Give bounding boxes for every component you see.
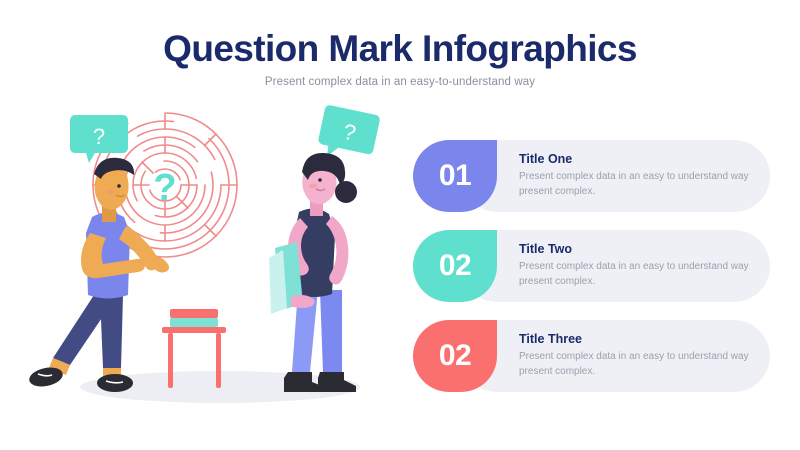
book-teal bbox=[170, 318, 218, 327]
card-number-2: 02 bbox=[439, 249, 471, 283]
illustration-people-maze: ? ? ? bbox=[20, 100, 410, 440]
card-text-2: Title Two Present complex data in an eas… bbox=[519, 242, 749, 289]
table-top bbox=[162, 327, 226, 333]
book-red-top bbox=[170, 309, 218, 318]
info-card-2[interactable]: 02 Title Two Present complex data in an … bbox=[413, 230, 770, 302]
card-badge-3: 02 bbox=[413, 320, 497, 392]
info-card-3[interactable]: 02 Title Three Present complex data in a… bbox=[413, 320, 770, 392]
person-left bbox=[28, 158, 169, 392]
card-text-1: Title One Present complex data in an eas… bbox=[519, 152, 749, 199]
svg-text:?: ? bbox=[93, 124, 105, 149]
hair-bun-knot bbox=[335, 181, 357, 203]
card-title-3: Title Three bbox=[519, 332, 749, 346]
table-leg-right bbox=[216, 333, 221, 388]
card-description-2: Present complex data in an easy to under… bbox=[519, 260, 749, 289]
card-description-3: Present complex data in an easy to under… bbox=[519, 350, 749, 379]
card-description-1: Present complex data in an easy to under… bbox=[519, 170, 749, 199]
leg-right-near bbox=[320, 290, 342, 372]
card-number-3: 02 bbox=[439, 339, 471, 373]
card-badge-1: 01 bbox=[413, 140, 497, 212]
page-title: Question Mark Infographics bbox=[0, 30, 800, 69]
header: Question Mark Infographics Present compl… bbox=[0, 0, 800, 88]
card-badge-2: 02 bbox=[413, 230, 497, 302]
maze-center-question-mark: ? bbox=[153, 167, 176, 209]
card-text-3: Title Three Present complex data in an e… bbox=[519, 332, 749, 379]
person-right bbox=[269, 153, 357, 392]
card-title-2: Title Two bbox=[519, 242, 749, 256]
content-stage: ? ? ? bbox=[0, 100, 800, 450]
leg-front-left bbox=[100, 295, 123, 368]
page-subtitle: Present complex data in an easy-to-under… bbox=[0, 76, 800, 88]
card-number-1: 01 bbox=[439, 159, 471, 193]
card-title-1: Title One bbox=[519, 152, 749, 166]
info-card-1[interactable]: 01 Title One Present complex data in an … bbox=[413, 140, 770, 212]
info-cards-list: 01 Title One Present complex data in an … bbox=[413, 140, 770, 410]
table-leg-left bbox=[168, 333, 173, 388]
